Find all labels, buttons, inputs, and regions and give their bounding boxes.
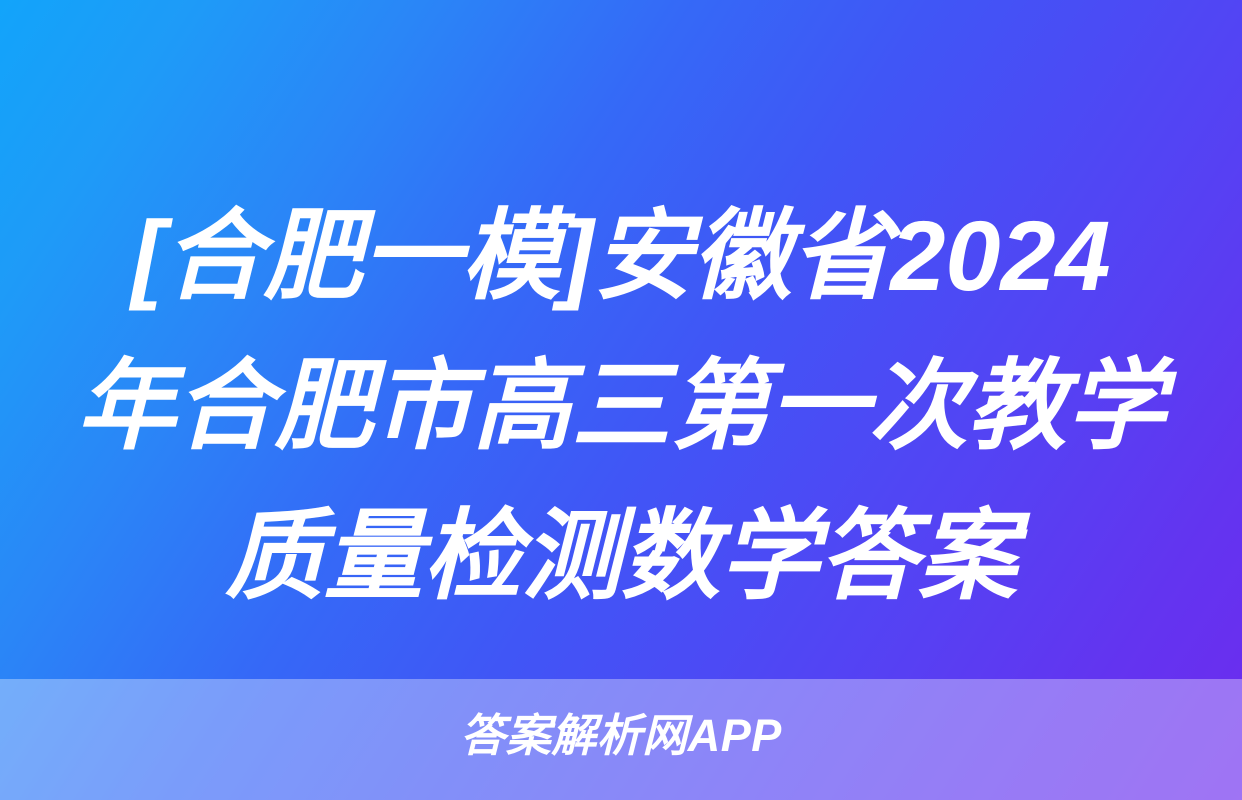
title-line-3: 质量检测数学答案 (0, 481, 1242, 631)
poster-title: [合肥一模]安徽省2024 年合肥市高三第一次教学 质量检测数学答案 (0, 181, 1242, 631)
title-line-1: [合肥一模]安徽省2024 (0, 181, 1242, 331)
poster-canvas: [合肥一模]安徽省2024 年合肥市高三第一次教学 质量检测数学答案 答案解析网… (0, 0, 1242, 800)
app-watermark-label: 答案解析网APP (460, 710, 782, 762)
title-line-2: 年合肥市高三第一次教学 (0, 331, 1242, 481)
watermark-area: 答案解析网APP (0, 704, 1242, 768)
